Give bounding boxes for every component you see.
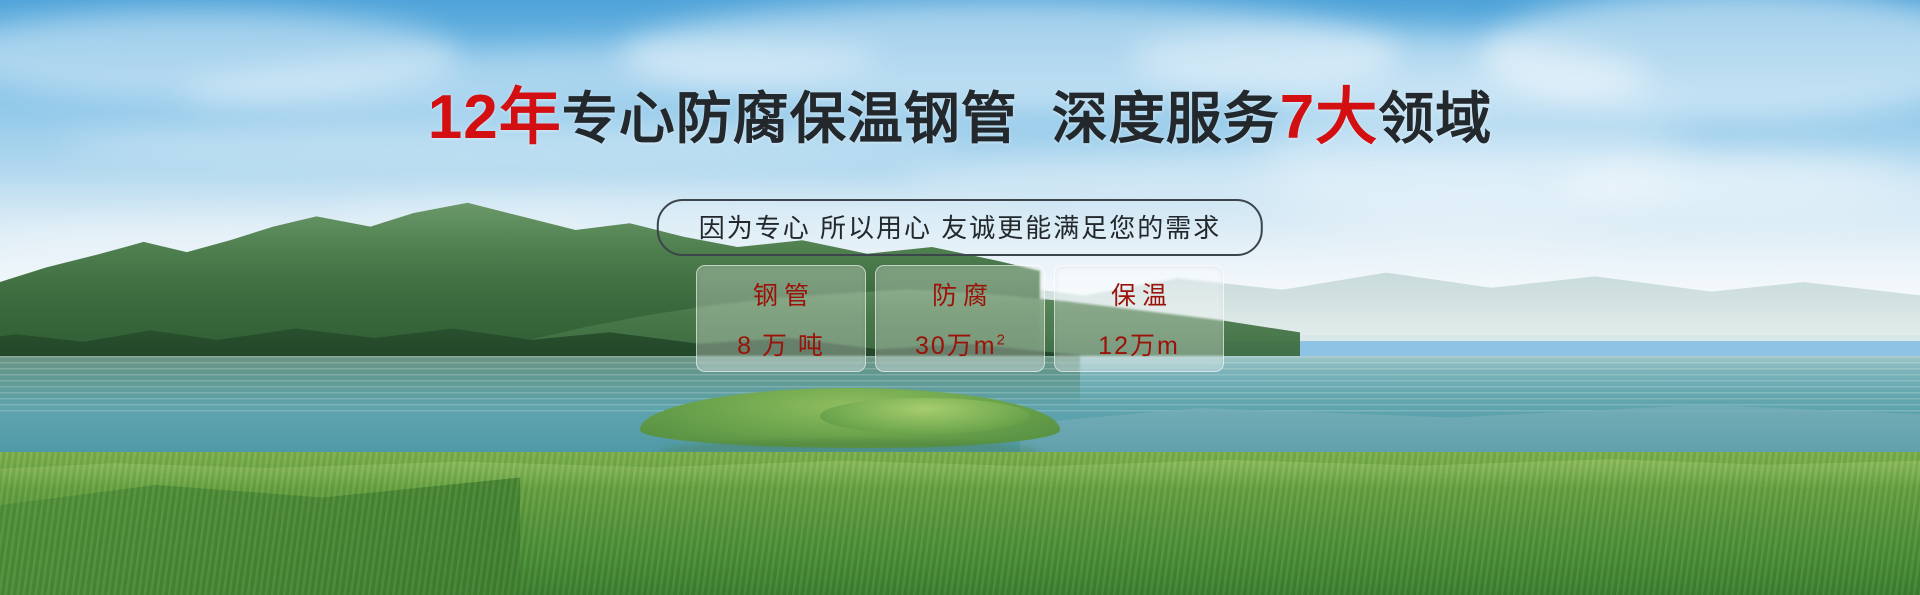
- stat-label: 保温: [1105, 276, 1173, 312]
- stat-value: 12万m: [1098, 326, 1180, 362]
- stat-value-text: 12万m: [1098, 332, 1180, 360]
- stats-row: 钢管 8 万 吨 防腐 30万m2 保温 12万m: [696, 265, 1224, 372]
- headline-years-unit: 年: [499, 83, 562, 152]
- headline: 12年专心防腐保温钢管深度服务7大领域: [0, 88, 1920, 149]
- hero-banner: 12年专心防腐保温钢管深度服务7大领域 因为专心 所以用心 友诚更能满足您的需求…: [0, 0, 1920, 595]
- headline-fields-suffix: 领域: [1378, 87, 1492, 150]
- stat-label: 防腐: [926, 276, 994, 312]
- headline-fields-unit: 大: [1315, 83, 1378, 152]
- stat-value-text: 30万m: [915, 332, 997, 360]
- banner-content: 12年专心防腐保温钢管深度服务7大领域 因为专心 所以用心 友诚更能满足您的需求…: [0, 0, 1920, 595]
- stat-card-steel-pipe[interactable]: 钢管 8 万 吨: [696, 265, 866, 372]
- subtitle-pill: 因为专心 所以用心 友诚更能满足您的需求: [657, 199, 1263, 256]
- stat-card-anticorrosion[interactable]: 防腐 30万m2: [875, 265, 1045, 372]
- stat-value-text: 8 万 吨: [737, 332, 825, 360]
- headline-service-phrase: 深度服务: [1052, 87, 1280, 150]
- stat-label: 钢管: [747, 276, 815, 312]
- headline-main-phrase: 专心防腐保温钢管: [562, 87, 1018, 150]
- stat-card-insulation[interactable]: 保温 12万m: [1054, 265, 1224, 372]
- headline-years-number: 12: [428, 83, 499, 152]
- stat-value-superscript: 2: [997, 331, 1005, 348]
- subtitle-text: 因为专心 所以用心 友诚更能满足您的需求: [699, 213, 1221, 243]
- headline-fields-number: 7: [1280, 83, 1315, 152]
- stat-value: 30万m2: [915, 326, 1005, 362]
- stat-value: 8 万 吨: [737, 326, 825, 362]
